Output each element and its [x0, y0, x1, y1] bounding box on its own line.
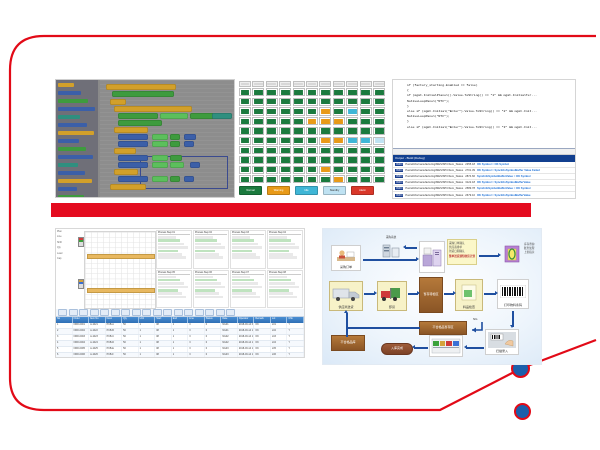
status-cell[interactable] [360, 156, 372, 164]
flow-arrow-head [416, 257, 419, 261]
status-cell[interactable] [373, 117, 385, 125]
code-block[interactable] [114, 148, 136, 154]
flow-node-unload[interactable]: 卸货 [377, 281, 407, 311]
flow-node-done[interactable]: 入库完成 [381, 343, 413, 355]
status-cell[interactable] [306, 117, 318, 125]
status-cell[interactable] [239, 137, 251, 145]
status-cell[interactable] [360, 137, 372, 145]
status-cell[interactable] [319, 88, 331, 96]
code-block[interactable] [190, 113, 214, 119]
table-cell: 0 [205, 335, 222, 340]
status-cell[interactable] [293, 137, 305, 145]
code-block[interactable] [152, 162, 168, 168]
detail-block-row [232, 292, 256, 295]
status-cell[interactable] [373, 107, 385, 115]
status-cell[interactable] [360, 146, 372, 154]
flow-label: 卸货 [378, 306, 406, 310]
palette-block[interactable] [58, 122, 96, 128]
status-cell[interactable] [306, 146, 318, 154]
status-cell[interactable] [333, 137, 345, 145]
code-editor-text[interactable]: if (factory_starting.Enabled == false){ … [393, 80, 575, 148]
table-cell: L02 [271, 329, 288, 334]
toolbar-button[interactable] [142, 309, 151, 316]
panel-code-ide[interactable]: if (factory_starting.Enabled == false){ … [392, 79, 576, 199]
status-cell[interactable] [266, 146, 278, 154]
toolbar-button[interactable] [111, 309, 120, 316]
status-cell[interactable] [279, 175, 291, 183]
console-path: ParcelInfo/manufacturing/MES/SPC/Item_St… [405, 163, 463, 166]
code-block[interactable] [152, 176, 168, 182]
status-cell[interactable] [239, 127, 251, 135]
detail-block-row [232, 253, 256, 256]
detail-block-title: Process Step 04 [269, 232, 301, 235]
status-cell[interactable] [266, 156, 278, 164]
status-cell[interactable] [279, 146, 291, 154]
status-cell[interactable] [306, 107, 318, 115]
toolbar-button[interactable] [58, 309, 67, 316]
status-cell[interactable] [346, 117, 358, 125]
detail-block-row [269, 239, 291, 242]
status-cell[interactable] [239, 81, 251, 87]
palette-block[interactable] [58, 146, 96, 152]
table-toolbar[interactable] [56, 309, 304, 317]
status-cell[interactable] [373, 175, 385, 183]
status-cell[interactable] [252, 166, 264, 174]
status-cell[interactable] [333, 98, 345, 106]
status-cell[interactable] [293, 166, 305, 174]
status-cell[interactable] [266, 88, 278, 96]
table-cell: 1 [172, 329, 189, 334]
console-path: ParcelInfo/manufacturing/MES/SPC/Item_St… [405, 187, 463, 190]
status-cell[interactable] [360, 98, 372, 106]
status-cell[interactable] [306, 175, 318, 183]
code-block[interactable] [118, 113, 158, 119]
detail-block-title: Process Step 05 [158, 272, 190, 275]
status-cell[interactable] [252, 156, 264, 164]
spreadsheet-detail-block[interactable]: Process Step 08 [267, 270, 303, 309]
status-cell[interactable] [319, 81, 331, 87]
status-cell[interactable] [266, 127, 278, 135]
status-cell[interactable] [239, 107, 251, 115]
spreadsheet-gantt-grid[interactable] [84, 231, 156, 309]
flow-arrow-head [453, 291, 456, 295]
status-cell[interactable] [360, 81, 372, 87]
status-cell[interactable] [252, 117, 264, 125]
status-cell[interactable] [239, 156, 251, 164]
flow-node-reject-lib[interactable]: 不合格品库 [331, 335, 365, 351]
palette-block[interactable] [58, 162, 96, 168]
status-cell[interactable] [346, 98, 358, 106]
code-block[interactable] [184, 141, 194, 147]
table-cell: NG02 [221, 341, 238, 346]
spreadsheet-detail-block[interactable]: Process Step 07 [230, 270, 266, 309]
table-row[interactable]: 6ORD-0006A-1026PCB-F50108130NG032018-03-… [56, 353, 304, 357]
code-block[interactable] [114, 169, 138, 175]
status-cell[interactable] [239, 146, 251, 154]
detail-block-row [195, 276, 213, 279]
status-cell[interactable] [373, 81, 385, 87]
status-cell[interactable] [306, 156, 318, 164]
status-cell[interactable] [333, 127, 345, 135]
palette-block[interactable] [58, 106, 96, 112]
toolbar-button[interactable] [153, 309, 162, 316]
toolbar-button[interactable] [184, 309, 193, 316]
flow-node-inspect[interactable]: 料品检查 [455, 279, 483, 311]
detail-block-row [269, 256, 297, 259]
spreadsheet-table[interactable]: NoOrderItem NoDescQtyUnitStartEndLineSta… [56, 309, 304, 357]
flow-node-reject-area[interactable]: 不合格品暂存区 [419, 321, 467, 335]
flow-node-docs[interactable] [419, 241, 445, 273]
status-cell[interactable] [319, 98, 331, 106]
toolbar-button[interactable] [205, 309, 214, 316]
code-block[interactable] [106, 84, 176, 90]
table-cell: OK [254, 341, 271, 346]
flow-label: 打印物料条码 [498, 304, 528, 308]
status-cell[interactable] [293, 98, 305, 106]
detail-block-row [269, 296, 297, 299]
code-block[interactable] [118, 155, 148, 161]
panel-flow-diagram[interactable]: 采购订单 采购系统 采购订单确认 供应商排单 到货日期确认 整单送货通知收货计划 [322, 228, 542, 365]
flow-node-docs-right[interactable] [501, 241, 523, 267]
code-block[interactable] [110, 184, 146, 190]
detail-block-title: Process Step 08 [269, 272, 301, 275]
code-block[interactable] [152, 155, 168, 161]
status-cell[interactable] [333, 175, 345, 183]
status-cell[interactable] [333, 107, 345, 115]
table-cell: 50 [122, 323, 139, 328]
status-cell[interactable] [346, 81, 358, 87]
status-cell[interactable] [279, 166, 291, 174]
detail-block-row [232, 276, 250, 279]
spreadsheet-detail-block[interactable]: Process Step 03 [230, 230, 266, 269]
code-block[interactable] [110, 99, 126, 105]
code-block[interactable] [118, 141, 148, 147]
detail-block-row [232, 246, 262, 249]
detail-block-row [232, 279, 254, 282]
toolbar-button[interactable] [226, 309, 235, 316]
flow-arrow-head [374, 291, 377, 295]
status-cell[interactable] [252, 137, 264, 145]
code-block[interactable] [152, 134, 168, 140]
console-output-list[interactable]: INFOParcelInfo/manufacturing/MES/SPC/Ite… [393, 162, 575, 200]
status-cell[interactable] [373, 127, 385, 135]
table-cell: NG02 [221, 335, 238, 340]
console-status: OK Symbol = SyncInfoSymbolBufferValue [477, 194, 531, 197]
status-cell[interactable] [279, 137, 291, 145]
detail-block-row [158, 243, 184, 246]
detail-block-row [232, 289, 252, 292]
status-cell[interactable] [306, 166, 318, 174]
code-block[interactable] [112, 91, 174, 97]
status-cell[interactable] [279, 156, 291, 164]
status-cell[interactable] [319, 175, 331, 183]
code-block[interactable] [170, 155, 182, 161]
code-block[interactable] [170, 176, 180, 182]
toolbar-button[interactable] [163, 309, 172, 316]
code-block[interactable] [170, 134, 180, 140]
code-block[interactable] [118, 120, 162, 126]
status-grid-cells[interactable] [239, 81, 385, 175]
code-block[interactable] [160, 113, 188, 119]
status-cell[interactable] [319, 156, 331, 164]
flow-arrow [414, 347, 428, 349]
palette-block[interactable] [58, 194, 96, 198]
status-cell[interactable] [293, 175, 305, 183]
table-cell: 3 [56, 335, 73, 340]
status-cell[interactable] [306, 98, 318, 106]
status-cell[interactable] [252, 98, 264, 106]
palette-block[interactable] [58, 82, 96, 88]
detail-block-row [269, 286, 299, 289]
status-cell[interactable] [279, 117, 291, 125]
table-cell: 2 [56, 329, 73, 334]
code-block[interactable] [184, 134, 196, 140]
status-cell[interactable] [239, 117, 251, 125]
status-cell[interactable] [319, 127, 331, 135]
table-cell: 0 [205, 347, 222, 352]
status-cell[interactable] [346, 146, 358, 154]
flow-node-barcode[interactable]: 打印物料条码 [497, 279, 529, 309]
console-path: ParcelInfo/manufacturing/MES/SPC/Item_St… [405, 181, 463, 184]
status-cell[interactable] [266, 98, 278, 106]
detail-block-row [232, 282, 258, 285]
code-block[interactable] [114, 127, 148, 133]
code-block[interactable] [170, 162, 184, 168]
status-cell[interactable] [293, 156, 305, 164]
toolbar-button[interactable] [90, 309, 99, 316]
flow-arrow-head [464, 345, 467, 349]
table-cell: 2018-03-14 13:44 [238, 341, 255, 346]
status-cell[interactable] [319, 166, 331, 174]
palette-block[interactable] [58, 90, 96, 96]
status-cell[interactable] [279, 98, 291, 106]
flow-node-order[interactable]: 采购订单 [331, 245, 361, 271]
detail-block-row [269, 246, 299, 249]
status-cell[interactable] [239, 88, 251, 96]
status-cell[interactable] [266, 81, 278, 87]
detail-block-row [232, 296, 260, 299]
status-cell[interactable] [266, 166, 278, 174]
flow-arrow-head [412, 345, 415, 349]
table-cell: 1 [172, 335, 189, 340]
code-block[interactable] [190, 162, 200, 168]
status-cell[interactable] [279, 127, 291, 135]
palette-block[interactable] [58, 114, 96, 120]
status-cell[interactable] [319, 117, 331, 125]
toolbar-button[interactable] [100, 309, 109, 316]
status-cell[interactable] [293, 127, 305, 135]
status-cell[interactable] [252, 88, 264, 96]
spreadsheet-detail-block[interactable]: Process Step 02 [193, 230, 229, 269]
blocks-canvas[interactable] [100, 80, 234, 197]
table-cell: 3 [188, 335, 205, 340]
status-cell[interactable] [252, 107, 264, 115]
console-panel[interactable]: Output - Build (Debug) INFOParcelInfo/ma… [393, 148, 575, 198]
console-status: OK Symbol = SyncInfoSymbolBufferValue [477, 181, 531, 184]
flow-node-staging[interactable]: 暂存待检区 [419, 277, 443, 313]
status-cell[interactable] [239, 175, 251, 183]
table-cell: 1 [172, 341, 189, 346]
status-cell[interactable] [333, 88, 345, 96]
table-cell: OK [254, 323, 271, 328]
status-cell[interactable] [293, 88, 305, 96]
status-cell[interactable] [373, 98, 385, 106]
status-cell[interactable] [252, 127, 264, 135]
gantt-bar[interactable] [87, 288, 155, 293]
table-cell: L01 [271, 323, 288, 328]
flow-label: 采购订单 [332, 266, 360, 270]
status-cell[interactable] [306, 81, 318, 87]
status-cell[interactable] [319, 107, 331, 115]
toolbar-button[interactable] [174, 309, 183, 316]
toolbar-button[interactable] [195, 309, 204, 316]
table-cell: 0 [205, 353, 222, 357]
status-cell[interactable] [266, 137, 278, 145]
palette-block[interactable] [58, 170, 96, 176]
status-cell[interactable] [293, 81, 305, 87]
status-cell[interactable] [293, 146, 305, 154]
console-tag: INFO [395, 163, 403, 166]
flow-node-shelve[interactable] [429, 335, 463, 357]
palette-block[interactable] [58, 186, 96, 192]
blocks-palette[interactable] [56, 80, 98, 197]
status-cell[interactable] [279, 107, 291, 115]
status-cell[interactable] [346, 166, 358, 174]
status-cell[interactable] [333, 156, 345, 164]
status-cell[interactable] [252, 146, 264, 154]
panel-status-grid[interactable]: NormalWarningIdleStandbyAlarm [237, 79, 387, 197]
status-cell[interactable] [252, 81, 264, 87]
status-cell[interactable] [279, 88, 291, 96]
detail-block-row [158, 236, 176, 239]
status-cell[interactable] [346, 127, 358, 135]
flow-node-scan[interactable]: 扫描录入 [485, 329, 519, 355]
status-cell[interactable] [266, 107, 278, 115]
flow-arrow-head [344, 310, 348, 313]
table-cell: OK [254, 347, 271, 352]
status-cell[interactable] [373, 88, 385, 96]
palette-block[interactable] [58, 154, 96, 160]
spreadsheet-detail-block[interactable]: Process Step 04 [267, 230, 303, 269]
status-cell[interactable] [333, 166, 345, 174]
code-block[interactable] [212, 113, 232, 119]
detail-block-row [269, 250, 289, 253]
status-cell[interactable] [306, 127, 318, 135]
code-block[interactable] [152, 141, 168, 147]
status-cell[interactable] [333, 81, 345, 87]
code-block[interactable] [118, 176, 148, 182]
status-cell[interactable] [373, 156, 385, 164]
status-cell[interactable] [373, 146, 385, 154]
table-cell: NG03 [221, 347, 238, 352]
status-cell[interactable] [239, 166, 251, 174]
palette-block[interactable] [58, 98, 96, 104]
toolbar-button[interactable] [69, 309, 78, 316]
table-cell: NG01 [221, 323, 238, 328]
legend-item: Normal [239, 186, 262, 195]
flow-node-supplier[interactable]: 供应商送货 [329, 281, 363, 311]
palette-block[interactable] [58, 138, 96, 144]
status-cell[interactable] [360, 117, 372, 125]
code-block[interactable] [170, 141, 180, 147]
status-cell[interactable] [333, 117, 345, 125]
palette-block[interactable] [58, 178, 96, 184]
table-cell: 1 [172, 323, 189, 328]
status-cell[interactable] [373, 166, 385, 174]
status-cell[interactable] [319, 146, 331, 154]
detail-block-row [158, 289, 178, 292]
table-cell: ORD-0002 [73, 329, 90, 334]
status-cell[interactable] [346, 88, 358, 96]
table-cell: Y [287, 329, 304, 334]
status-cell[interactable] [252, 175, 264, 183]
spreadsheet-detail-block[interactable]: Process Step 05 [156, 270, 192, 309]
status-cell[interactable] [346, 137, 358, 145]
code-block[interactable] [114, 106, 192, 112]
toolbar-button[interactable] [121, 309, 130, 316]
palette-block[interactable] [58, 130, 96, 136]
flow-arrow [405, 247, 417, 249]
status-cell[interactable] [360, 175, 372, 183]
code-block[interactable] [184, 176, 194, 182]
status-cell[interactable] [266, 117, 278, 125]
gantt-bar[interactable] [87, 254, 155, 259]
status-cell[interactable] [306, 137, 318, 145]
status-cell[interactable] [293, 107, 305, 115]
toolbar-button[interactable] [132, 309, 141, 316]
status-indicator [78, 279, 84, 289]
spreadsheet-detail-block[interactable]: Process Step 06 [193, 270, 229, 309]
code-block[interactable] [118, 134, 148, 140]
panel-spreadsheet[interactable]: PlanLineShiftQtyLoadCap Process Step 01P… [55, 228, 305, 358]
flow-label: 入库完成 [382, 347, 412, 351]
panel-blocks-editor[interactable] [55, 79, 235, 198]
status-cell[interactable] [333, 146, 345, 154]
status-cell[interactable] [346, 175, 358, 183]
code-block[interactable] [118, 162, 148, 168]
status-cell[interactable] [360, 88, 372, 96]
status-cell[interactable] [360, 166, 372, 174]
status-cell[interactable] [239, 98, 251, 106]
table-cell: ORD-0005 [73, 347, 90, 352]
spreadsheet-upper[interactable]: PlanLineShiftQtyLoadCap Process Step 01P… [56, 229, 304, 309]
flow-label: 扫描录入 [486, 350, 518, 354]
toolbar-button[interactable] [79, 309, 88, 316]
status-cell[interactable] [279, 81, 291, 87]
console-status: OK Symbol = SyncInfoSymbolBuffer Value F… [477, 169, 540, 172]
status-cell[interactable] [346, 156, 358, 164]
status-cell[interactable] [293, 117, 305, 125]
spreadsheet-detail-block[interactable]: Process Step 01 [156, 230, 192, 269]
detail-block-row [195, 279, 217, 282]
detail-block-row [232, 286, 262, 289]
status-cell[interactable] [373, 137, 385, 145]
flow-arrow [479, 255, 499, 257]
toolbar-button[interactable] [216, 309, 225, 316]
status-cell[interactable] [319, 137, 331, 145]
status-cell[interactable] [360, 127, 372, 135]
table-body[interactable]: 1ORD-0001A-1021PCB-A50108130NG012018-03-… [56, 323, 304, 358]
status-cell[interactable] [360, 107, 372, 115]
table-cell: 2018-03-14 16:02 [238, 353, 255, 357]
detail-block-row [195, 243, 221, 246]
deco-node-lower [514, 403, 531, 420]
spreadsheet-detail-blocks[interactable]: Process Step 01Process Step 02Process St… [156, 230, 303, 308]
flow-label: 料品检查 [456, 306, 482, 310]
status-cell[interactable] [306, 88, 318, 96]
status-cell[interactable] [346, 107, 358, 115]
status-cell[interactable] [266, 175, 278, 183]
